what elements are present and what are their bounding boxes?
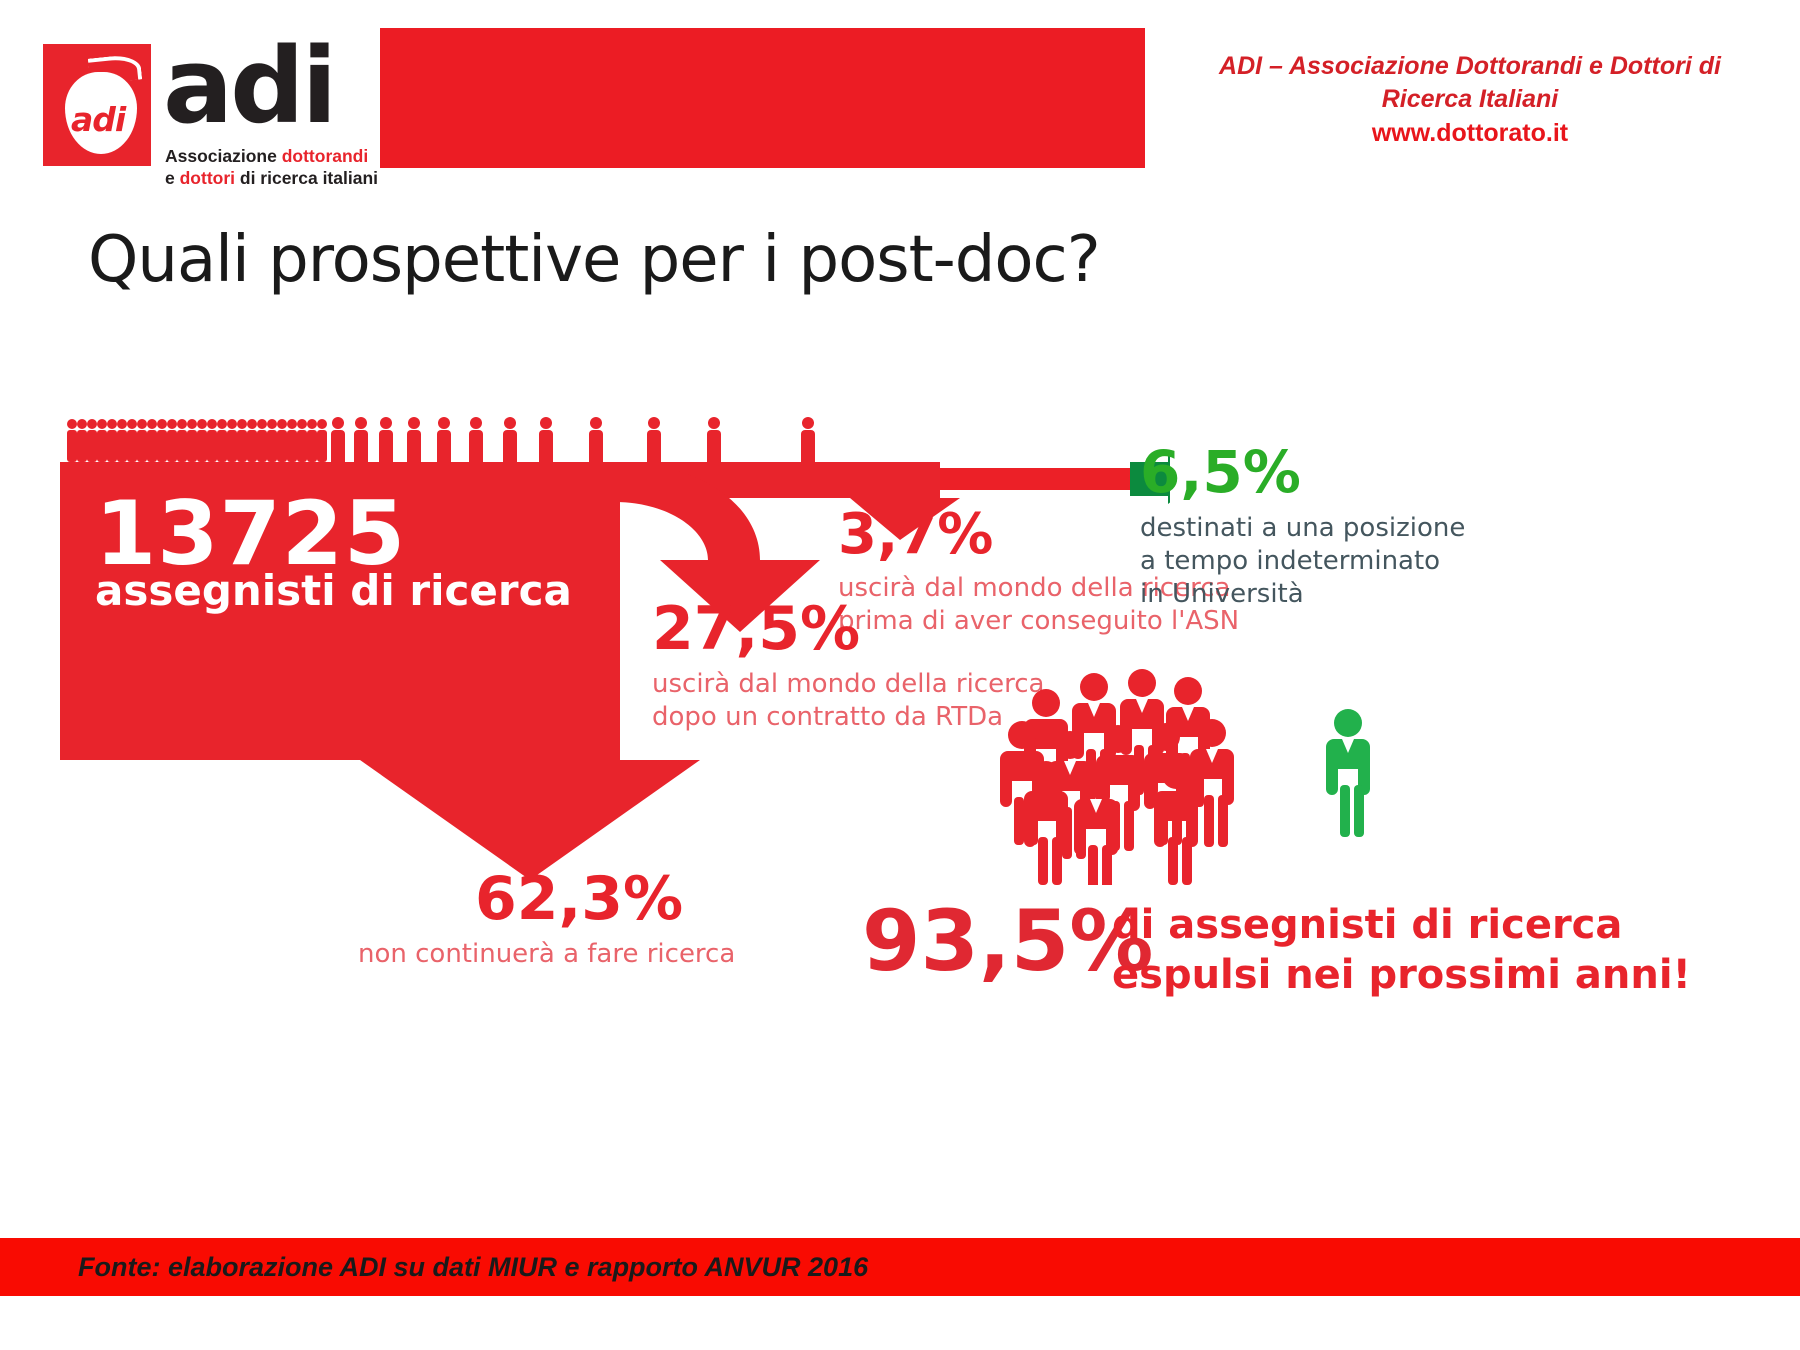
adi-tagline-line2-b: dottori [180,168,235,188]
stat-label-tempo-indeterminato-line2: a tempo indeterminato [1140,545,1465,578]
stat-label-tempo-indeterminato-line1: destinati a una posizione [1140,512,1465,545]
stat-label-non-continuera: non continuerà a fare ricerca [358,938,735,971]
adi-tagline-line2-c: di ricerca italiani [235,168,378,188]
apple-stem-icon [88,53,142,84]
highlight-label-line1: di assegnisti di ricerca [1112,900,1691,950]
total-label: assegnisti di ricerca [95,568,572,614]
page-title: Quali prospettive per i post-doc? [88,222,1100,298]
org-name-line2: Ricerca Italiani [1180,83,1760,116]
header-org-info: ADI – Associazione Dottorandi e Dottori … [1180,50,1760,150]
highlight-label: di assegnisti di ricerca espulsi nei pro… [1112,900,1691,1000]
adi-wordmark: adi [163,34,334,138]
adi-tagline-line1: Associazione dottorandi [165,146,368,167]
adi-logo-mark-text: adi [71,100,125,139]
crowd-pictogram [1000,665,1420,885]
adi-tagline-line1-a: Associazione [165,146,282,166]
header-red-band [380,28,1145,168]
stat-label-rtda-line1: uscirà dal mondo della ricerca [652,668,1044,701]
footer-source-text: Fonte: elaborazione ADI su dati MIUR e r… [78,1250,868,1284]
footer-source-bar: Fonte: elaborazione ADI su dati MIUR e r… [0,1238,1800,1296]
adi-tagline-line2: e dottori di ricerca italiani [165,168,378,189]
stat-value-rtda: 27,5% [652,598,860,660]
stat-label-tempo-indeterminato-line3: in Università [1140,578,1465,611]
stat-value-pre-asn: 3,7% [838,506,993,564]
stat-label-tempo-indeterminato: destinati a una posizione a tempo indete… [1140,512,1465,611]
people-pictogram-row [66,412,926,474]
stat-label-rtda: uscirà dal mondo della ricerca dopo un c… [652,668,1044,734]
highlight-value: 93,5% [862,898,1153,984]
adi-tagline-line2-a: e [165,168,180,188]
adi-tagline-line1-b: dottorandi [282,146,369,166]
stat-label-rtda-line2: dopo un contratto da RTDa [652,701,1044,734]
adi-logo: adi adi Associazione dottorandi e dottor… [35,32,355,172]
adi-logo-mark: adi [43,44,151,166]
stat-value-non-continuera: 62,3% [475,868,683,930]
org-website-link[interactable]: www.dottorato.it [1180,116,1760,150]
highlight-label-line2: espulsi nei prossimi anni! [1112,950,1691,1000]
org-name-line1: ADI – Associazione Dottorandi e Dottori … [1180,50,1760,83]
stat-value-tempo-indeterminato: 6,5% [1140,442,1301,502]
total-value: 13725 [95,490,406,578]
infographic-postdoc-prospects: 13725 assegnisti di ricerca 3,7% uscirà … [0,400,1800,1200]
